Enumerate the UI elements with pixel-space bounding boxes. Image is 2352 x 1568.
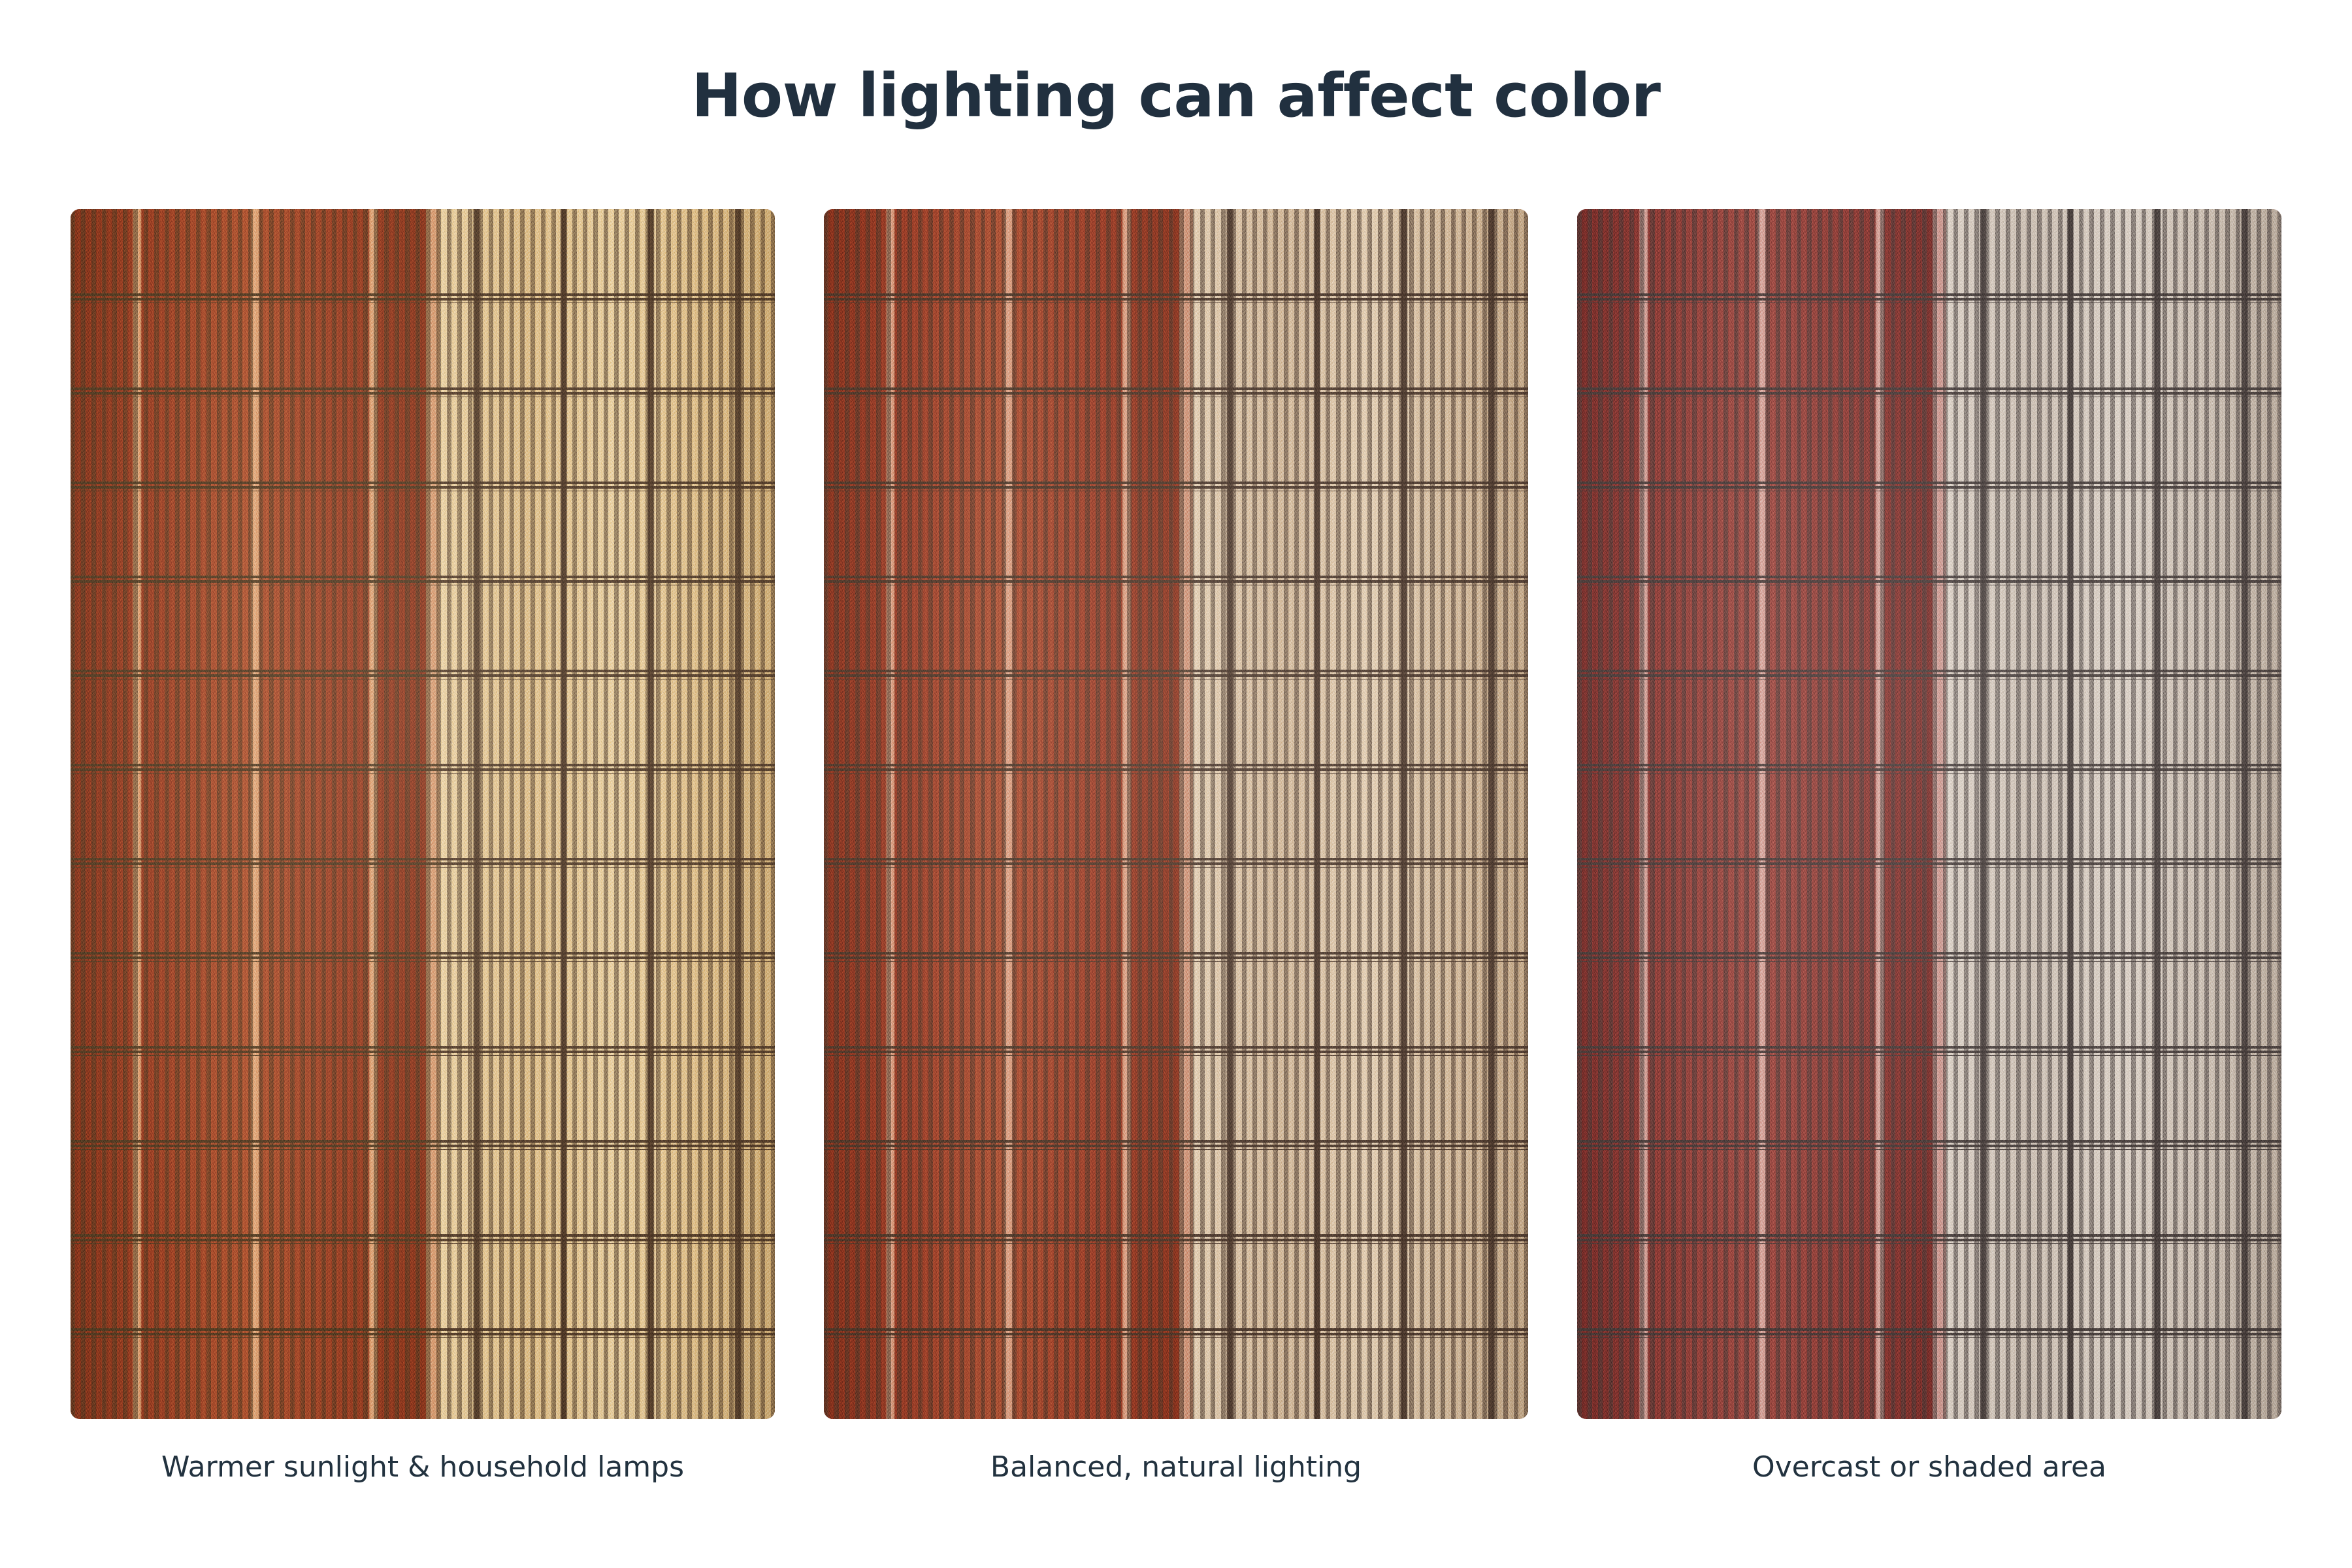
swatch-caption-balanced: Balanced, natural lighting: [824, 1450, 1528, 1484]
rug-swatch-image-cool[interactable]: [1577, 209, 2281, 1419]
swatch-caption-warm: Warmer sunlight & household lamps: [71, 1450, 775, 1484]
swatch-panel-cool[interactable]: Overcast or shaded area: [1577, 209, 2281, 1419]
rug-swatch-image-balanced[interactable]: [824, 209, 1528, 1419]
swatch-panel-warm[interactable]: Warmer sunlight & household lamps: [71, 209, 775, 1419]
page-title: How lighting can affect color: [0, 63, 2352, 129]
rug-swatch-image-warm[interactable]: [71, 209, 775, 1419]
swatch-caption-cool: Overcast or shaded area: [1577, 1450, 2281, 1484]
page-root: How lighting can affect color Warmer sun…: [0, 0, 2352, 1568]
swatch-gallery: Warmer sunlight & household lamps Balanc…: [71, 209, 2281, 1419]
swatch-panel-balanced[interactable]: Balanced, natural lighting: [824, 209, 1528, 1419]
